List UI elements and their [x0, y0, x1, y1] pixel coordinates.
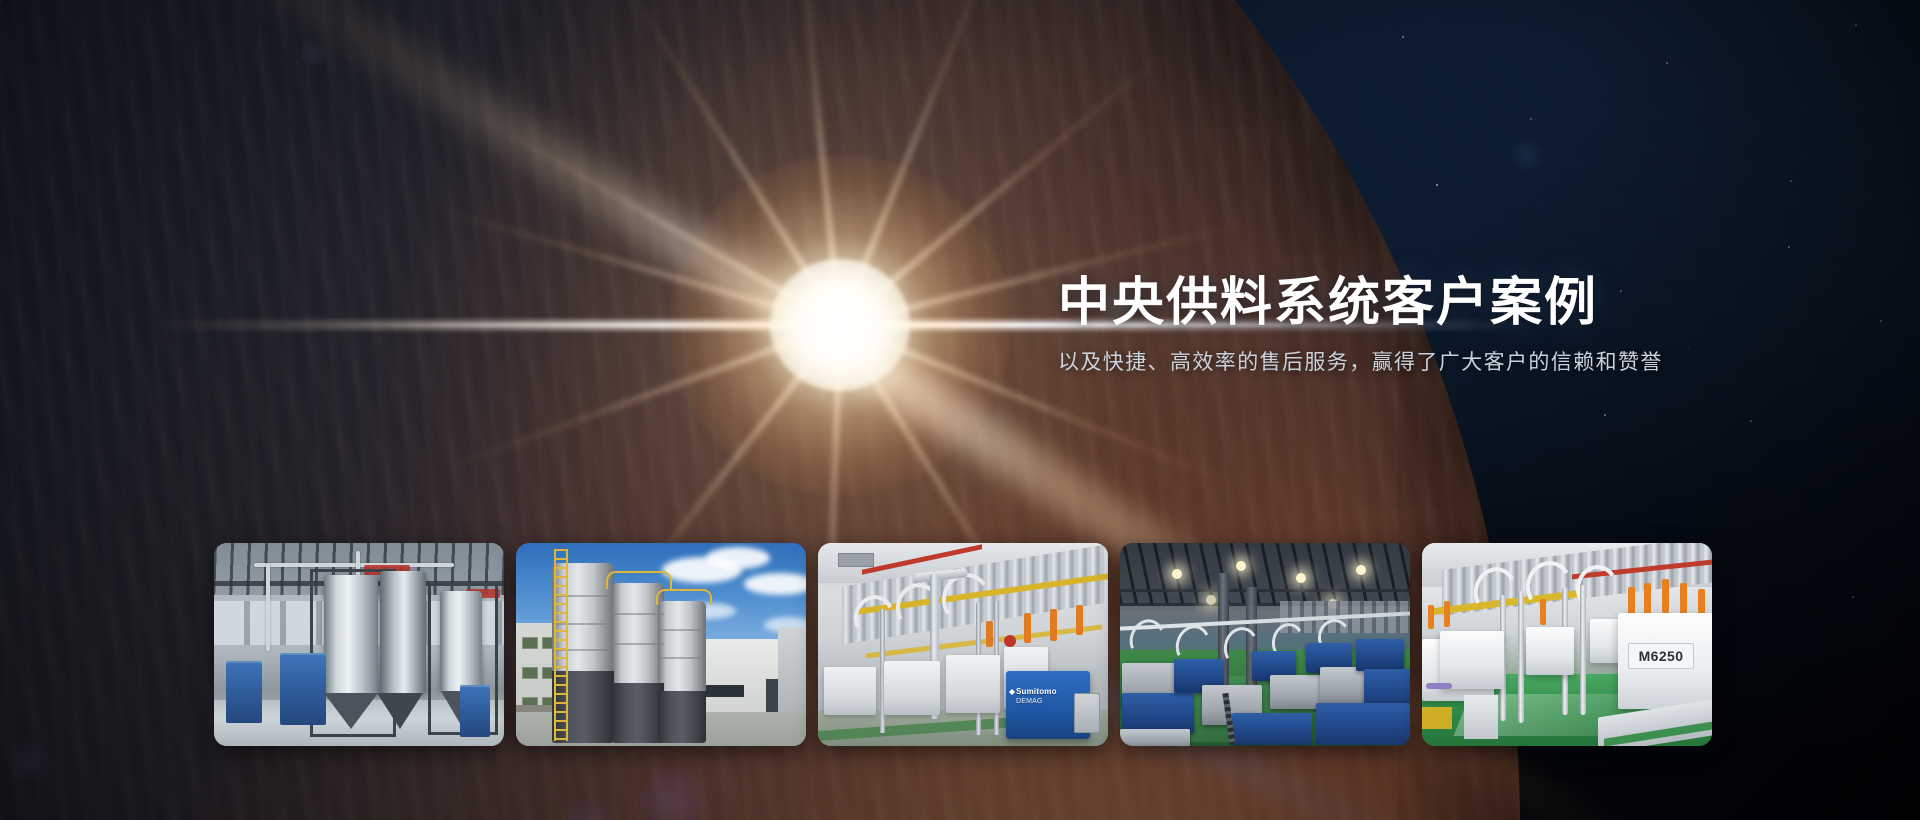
- ceiling-lamp: [1172, 569, 1182, 579]
- machine-brand-label: SumitomoDEMAG: [1016, 687, 1057, 707]
- roof-truss: [1120, 589, 1410, 592]
- molding-machine: [1120, 729, 1190, 746]
- thumb-4-scene: [1120, 543, 1410, 746]
- robot-arm-orange: [1076, 605, 1083, 635]
- steel-hopper: [440, 591, 482, 691]
- silo-band: [658, 657, 706, 659]
- gallery-thumbnail-4[interactable]: [1120, 543, 1410, 746]
- ceiling-lamp: [1356, 565, 1366, 575]
- feed-riser: [1518, 591, 1524, 723]
- robot-arm-orange: [1024, 613, 1031, 643]
- feed-riser: [1580, 585, 1586, 715]
- silo-band: [612, 613, 664, 615]
- hopper-cone: [324, 693, 378, 729]
- robot-arm-orange: [1628, 587, 1635, 615]
- gallery-thumbnail-3[interactable]: SumitomoDEMAG: [818, 543, 1108, 746]
- page-title: 中央供料系统客户案例: [1058, 272, 1778, 334]
- thumb-3-scene: SumitomoDEMAG: [818, 543, 1108, 746]
- machine-id-label: M6250: [1639, 648, 1684, 664]
- molding-machine: [1440, 631, 1504, 689]
- warehouse-roof: [1120, 543, 1410, 605]
- overhead-pipe: [254, 563, 454, 567]
- gallery-thumbnail-1[interactable]: [214, 543, 504, 746]
- ceiling-fixture: [838, 553, 874, 567]
- molding-machine: [1356, 639, 1404, 671]
- thumb-5-scene: M6250: [1422, 543, 1712, 746]
- silo-base: [658, 691, 706, 743]
- steel-hopper: [324, 575, 378, 693]
- robot-arm-orange: [1428, 605, 1434, 629]
- silo-handrail: [606, 571, 672, 589]
- robot-arm-orange: [1050, 609, 1057, 641]
- cloud: [744, 573, 806, 595]
- ceiling-lamp: [1206, 595, 1216, 605]
- blue-dryer-unit: [226, 661, 262, 723]
- robot-arm-orange: [1680, 583, 1687, 615]
- molding-machine: [946, 655, 1000, 713]
- robot-arm-orange: [1698, 589, 1705, 615]
- robot-arm-orange: [1644, 583, 1651, 615]
- thumb-1-scene: [214, 543, 504, 746]
- molding-machine: [1526, 627, 1574, 675]
- blue-dryer-unit: [460, 685, 490, 737]
- silo-handrail: [656, 589, 712, 605]
- molding-machine: [1270, 675, 1322, 709]
- sumitomo-logo-icon: [1009, 689, 1015, 695]
- molding-machine: [1232, 713, 1312, 745]
- cloud: [706, 547, 770, 569]
- molding-machine: [1122, 693, 1194, 733]
- robot-arm-orange: [986, 621, 993, 647]
- molding-machine: [824, 667, 876, 715]
- molding-machine: [1316, 703, 1410, 745]
- vertical-pipe: [266, 563, 270, 651]
- blue-dryer-unit: [280, 653, 326, 725]
- purple-cable: [1426, 683, 1452, 689]
- page-subtitle: 以及快捷、高效率的售后服务，赢得了广大客户的信赖和赞誉: [1058, 348, 1778, 378]
- building-window: [522, 667, 538, 679]
- robot-arm-orange: [1662, 579, 1669, 613]
- steel-hopper: [380, 571, 426, 693]
- control-panel: [1074, 693, 1100, 733]
- side-cabinet: [1464, 695, 1498, 739]
- robot-arm-orange: [1444, 601, 1450, 627]
- access-ladder: [554, 549, 568, 741]
- hopper-cone: [377, 693, 423, 729]
- ceiling-lamp: [1296, 573, 1306, 583]
- gallery-thumbnail-5[interactable]: M6250: [1422, 543, 1712, 746]
- ceiling-lamp: [1236, 561, 1246, 571]
- robot-arm-orange: [1540, 599, 1546, 625]
- silo-band: [658, 629, 706, 631]
- gallery-thumbnail-2[interactable]: [516, 543, 806, 746]
- hero-banner: 中央供料系统客户案例 以及快捷、高效率的售后服务，赢得了广大客户的信赖和赞誉: [0, 0, 1920, 820]
- thumb-2-scene: [516, 543, 806, 746]
- molding-machine: [884, 661, 940, 715]
- silo-band: [612, 643, 664, 645]
- building-window: [522, 637, 538, 649]
- case-gallery: SumitomoDEMAG: [214, 543, 1676, 746]
- machine-id-plate: M6250: [1628, 643, 1694, 669]
- red-indicator: [1004, 635, 1016, 647]
- silo-base: [612, 683, 664, 743]
- hero-copy: 中央供料系统客户案例 以及快捷、高效率的售后服务，赢得了广大客户的信赖和赞誉: [1058, 272, 1778, 378]
- far-building: [778, 627, 806, 715]
- warehouse-window: [704, 685, 744, 697]
- yellow-guard: [1422, 707, 1452, 729]
